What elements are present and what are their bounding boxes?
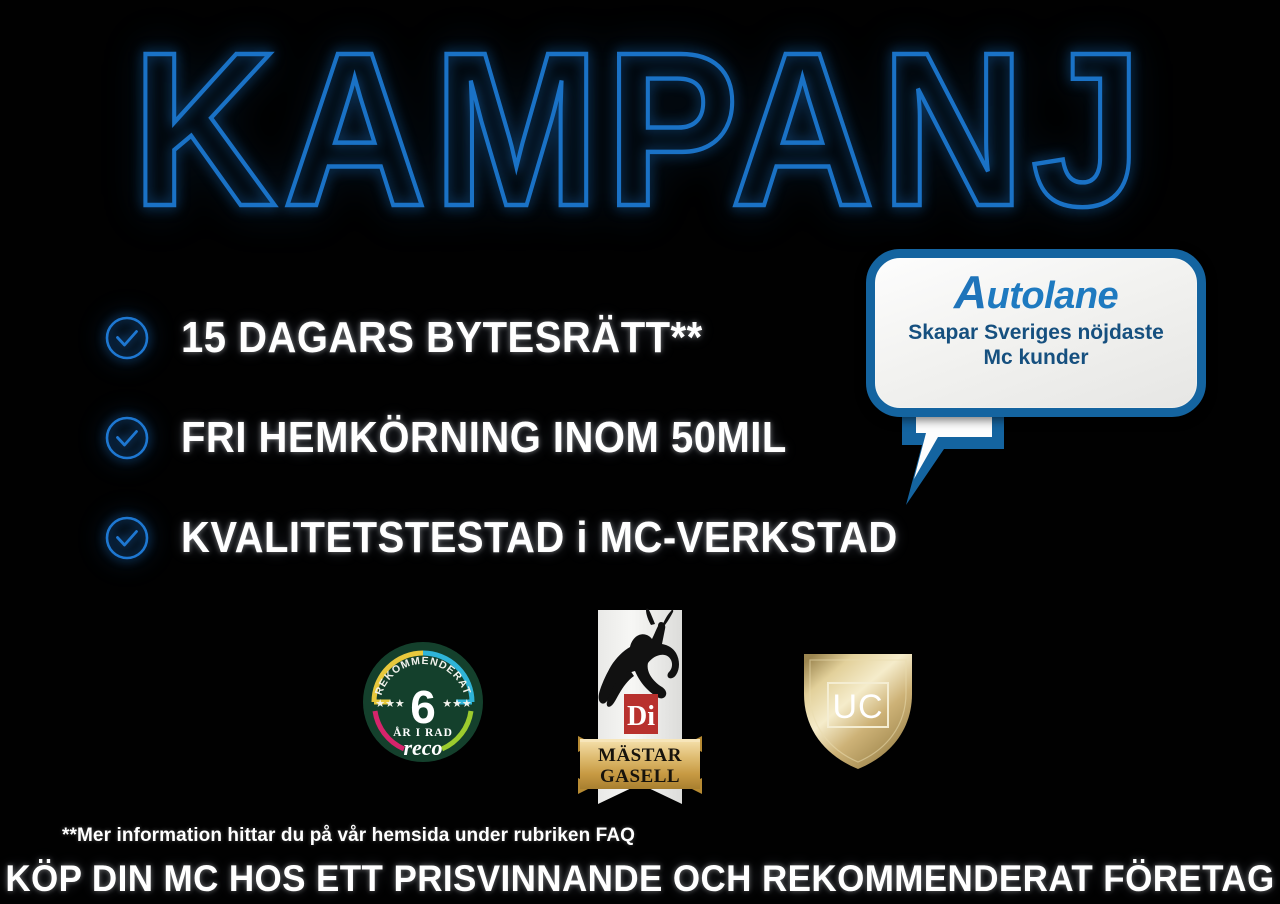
svg-text:reco: reco xyxy=(403,735,442,760)
autolane-logo-rest: utolane xyxy=(987,275,1119,317)
autolane-logo-initial: A xyxy=(954,266,987,318)
check-circle-icon xyxy=(104,315,150,361)
svg-text:★★★: ★★★ xyxy=(442,698,472,710)
benefits-list: 15 DAGARS BYTESRÄTT** FRI HEMKÖRNING INO… xyxy=(104,288,924,588)
poster-title-container: KAMPANJ xyxy=(0,18,1280,218)
campaign-poster: KAMPANJ 15 DAGARS BYTESRÄTT** FRI HEMKÖR… xyxy=(0,0,1280,904)
autolane-logo: Autolane xyxy=(954,270,1118,318)
check-circle-icon xyxy=(104,515,150,561)
di-mark: Di xyxy=(627,701,655,732)
award-badges-row: REKOMMENDERAT 6 ★★★ ★★★ ÅR I RAD reco xyxy=(0,600,1280,820)
list-item: FRI HEMKÖRNING INOM 50MIL xyxy=(104,388,924,488)
reco-badge: REKOMMENDERAT 6 ★★★ ★★★ ÅR I RAD reco xyxy=(362,641,484,763)
check-circle-icon xyxy=(104,415,150,461)
uc-label: UC xyxy=(832,688,883,726)
autolane-speech-bubble: Autolane Skapar Sveriges nöjdaste Mc kun… xyxy=(866,249,1206,417)
page-title: KAMPANJ xyxy=(132,18,1149,242)
uc-shield-badge: UC xyxy=(798,648,918,773)
svg-text:★★★: ★★★ xyxy=(375,698,405,710)
autolane-tagline-line-2: Mc kunder xyxy=(908,345,1164,370)
di-mastar-gasell-badge: Di MÄSTAR GASELL xyxy=(576,608,704,810)
footnote-text: **Mer information hittar du på vår hemsi… xyxy=(62,824,635,848)
autolane-tagline-line-1: Skapar Sveriges nöjdaste xyxy=(908,320,1164,345)
benefit-label: KVALITETSTESTAD i MC-VERKSTAD xyxy=(181,514,898,562)
benefit-label: FRI HEMKÖRNING INOM 50MIL xyxy=(181,414,787,462)
list-item: KVALITETSTESTAD i MC-VERKSTAD xyxy=(104,488,924,588)
list-item: 15 DAGARS BYTESRÄTT** xyxy=(104,288,924,388)
ribbon-line-2: GASELL xyxy=(600,766,680,787)
footer-headline: KÖP DIN MC HOS ETT PRISVINNANDE OCH REKO… xyxy=(0,858,1280,900)
svg-text:6: 6 xyxy=(410,681,436,733)
benefit-label: 15 DAGARS BYTESRÄTT** xyxy=(181,314,703,362)
speech-bubble-body: Autolane Skapar Sveriges nöjdaste Mc kun… xyxy=(866,249,1206,417)
autolane-tagline: Skapar Sveriges nöjdaste Mc kunder xyxy=(908,320,1164,370)
ribbon-line-1: MÄSTAR xyxy=(598,745,682,766)
